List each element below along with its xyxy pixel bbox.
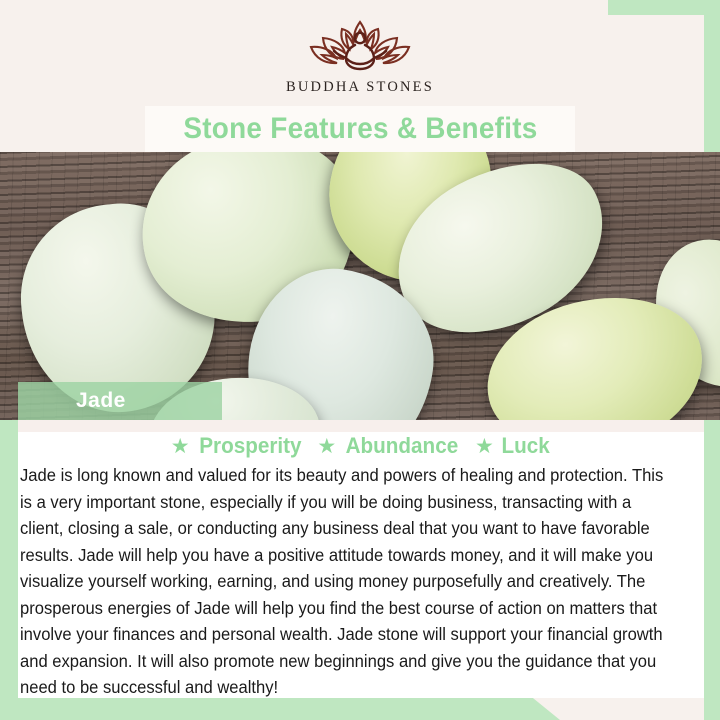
description-panel: ★ Prosperity ★ Abundance ★ Luck Jade is … bbox=[18, 420, 704, 698]
benefit-item: ★ Prosperity bbox=[171, 433, 305, 459]
star-icon: ★ bbox=[317, 436, 336, 457]
benefit-label: Abundance bbox=[346, 433, 459, 459]
benefit-label: Luck bbox=[501, 433, 549, 459]
star-icon: ★ bbox=[475, 436, 494, 457]
star-icon: ★ bbox=[171, 436, 190, 457]
stone-name: Jade bbox=[76, 389, 126, 413]
brand-name: BUDDHA STONES bbox=[286, 79, 434, 96]
brand-header: BUDDHA STONES bbox=[0, 0, 720, 108]
lotus-meditation-icon bbox=[301, 14, 419, 76]
stone-info-card: BUDDHA STONES Stone Features & Benefits … bbox=[0, 0, 720, 720]
stone-name-banner: Jade bbox=[18, 382, 222, 420]
panel-top-tint bbox=[18, 420, 704, 432]
stone-photo bbox=[0, 152, 720, 420]
benefit-label: Prosperity bbox=[199, 433, 301, 459]
title-banner: Stone Features & Benefits bbox=[145, 106, 575, 152]
benefit-item: ★ Abundance bbox=[317, 433, 462, 459]
benefit-item: ★ Luck bbox=[475, 433, 551, 459]
stone-description: Jade is long known and valued for its be… bbox=[20, 462, 678, 701]
benefits-row: ★ Prosperity ★ Abundance ★ Luck bbox=[18, 433, 704, 459]
page-title: Stone Features & Benefits bbox=[183, 112, 537, 146]
